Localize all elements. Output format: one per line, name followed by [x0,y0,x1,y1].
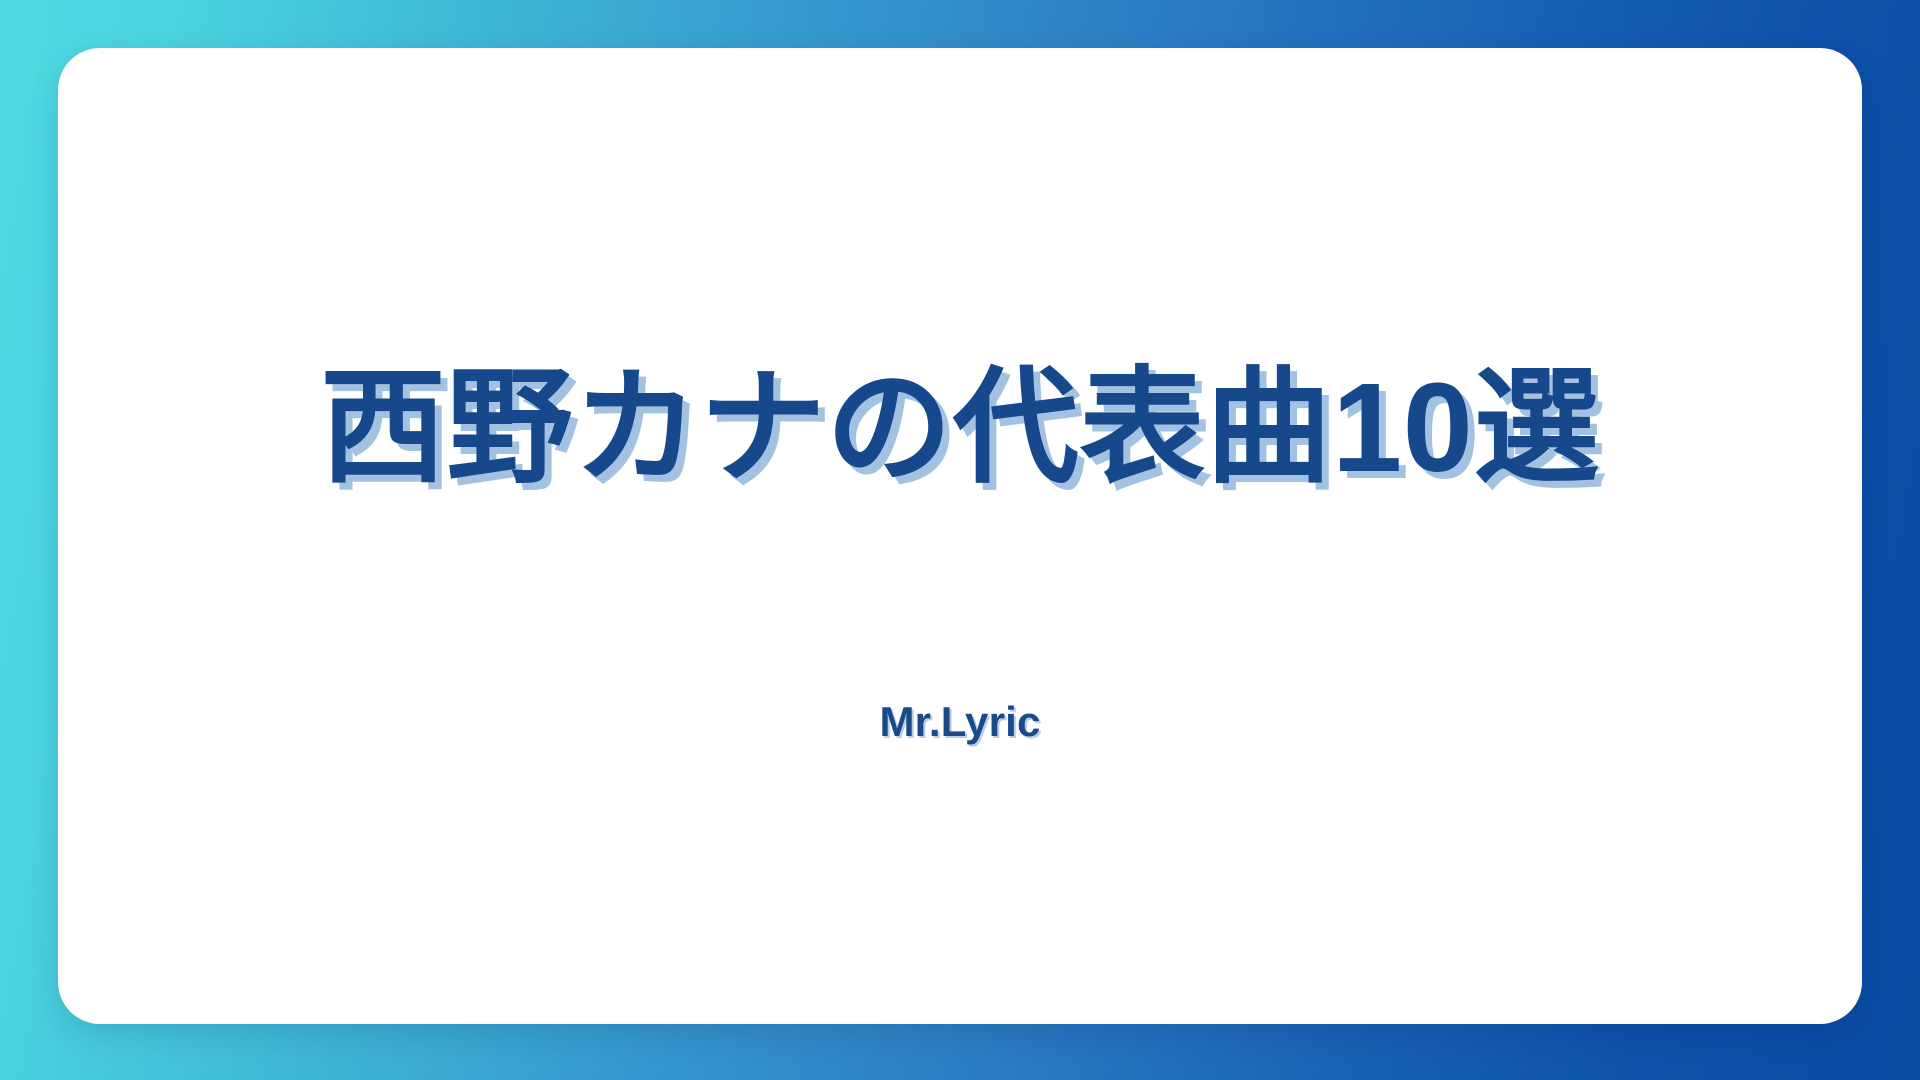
title-card: 西野カナの代表曲10選 Mr.Lyric [58,48,1862,1024]
page-title: 西野カナの代表曲10選 [320,354,1600,503]
title-subtitle-spacer [960,502,961,698]
presentation-slide: 西野カナの代表曲10選 Mr.Lyric [0,0,1920,1080]
slide-subtitle: Mr.Lyric [879,698,1040,746]
card-content: 西野カナの代表曲10選 Mr.Lyric [58,354,1862,747]
